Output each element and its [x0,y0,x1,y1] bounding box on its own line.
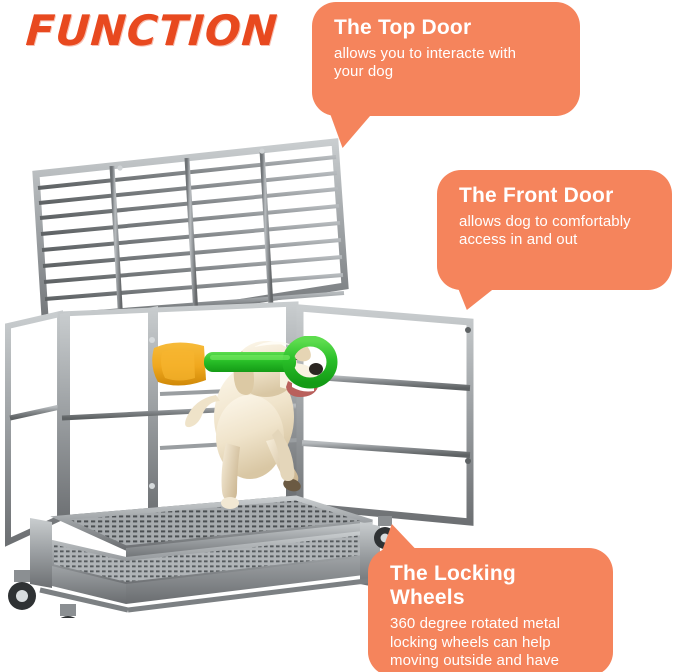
crate-side-panel [8,314,60,542]
callout-body: allows you to interacte with your dog [334,45,562,82]
callout-body: 360 degree rotated metal locking wheels … [390,615,595,672]
callout-title: The Top Door [334,16,562,40]
crate-top-door[interactable] [36,142,345,333]
callout-title: The Front Door [459,184,654,208]
infographic-canvas: FUNCTION [0,0,679,672]
page-title: FUNCTION [24,6,279,55]
callout-top-door: The Top Door allows you to interacte wit… [312,2,580,116]
callout-locking-wheels: The Locking Wheels 360 degree rotated me… [368,548,613,672]
shovel-toy [148,336,343,396]
callout-front-door: The Front Door allows dog to comfortably… [437,170,672,290]
callout-body: allows dog to comfortably access in and … [459,213,654,250]
callout-title: The Locking Wheels [390,562,595,610]
